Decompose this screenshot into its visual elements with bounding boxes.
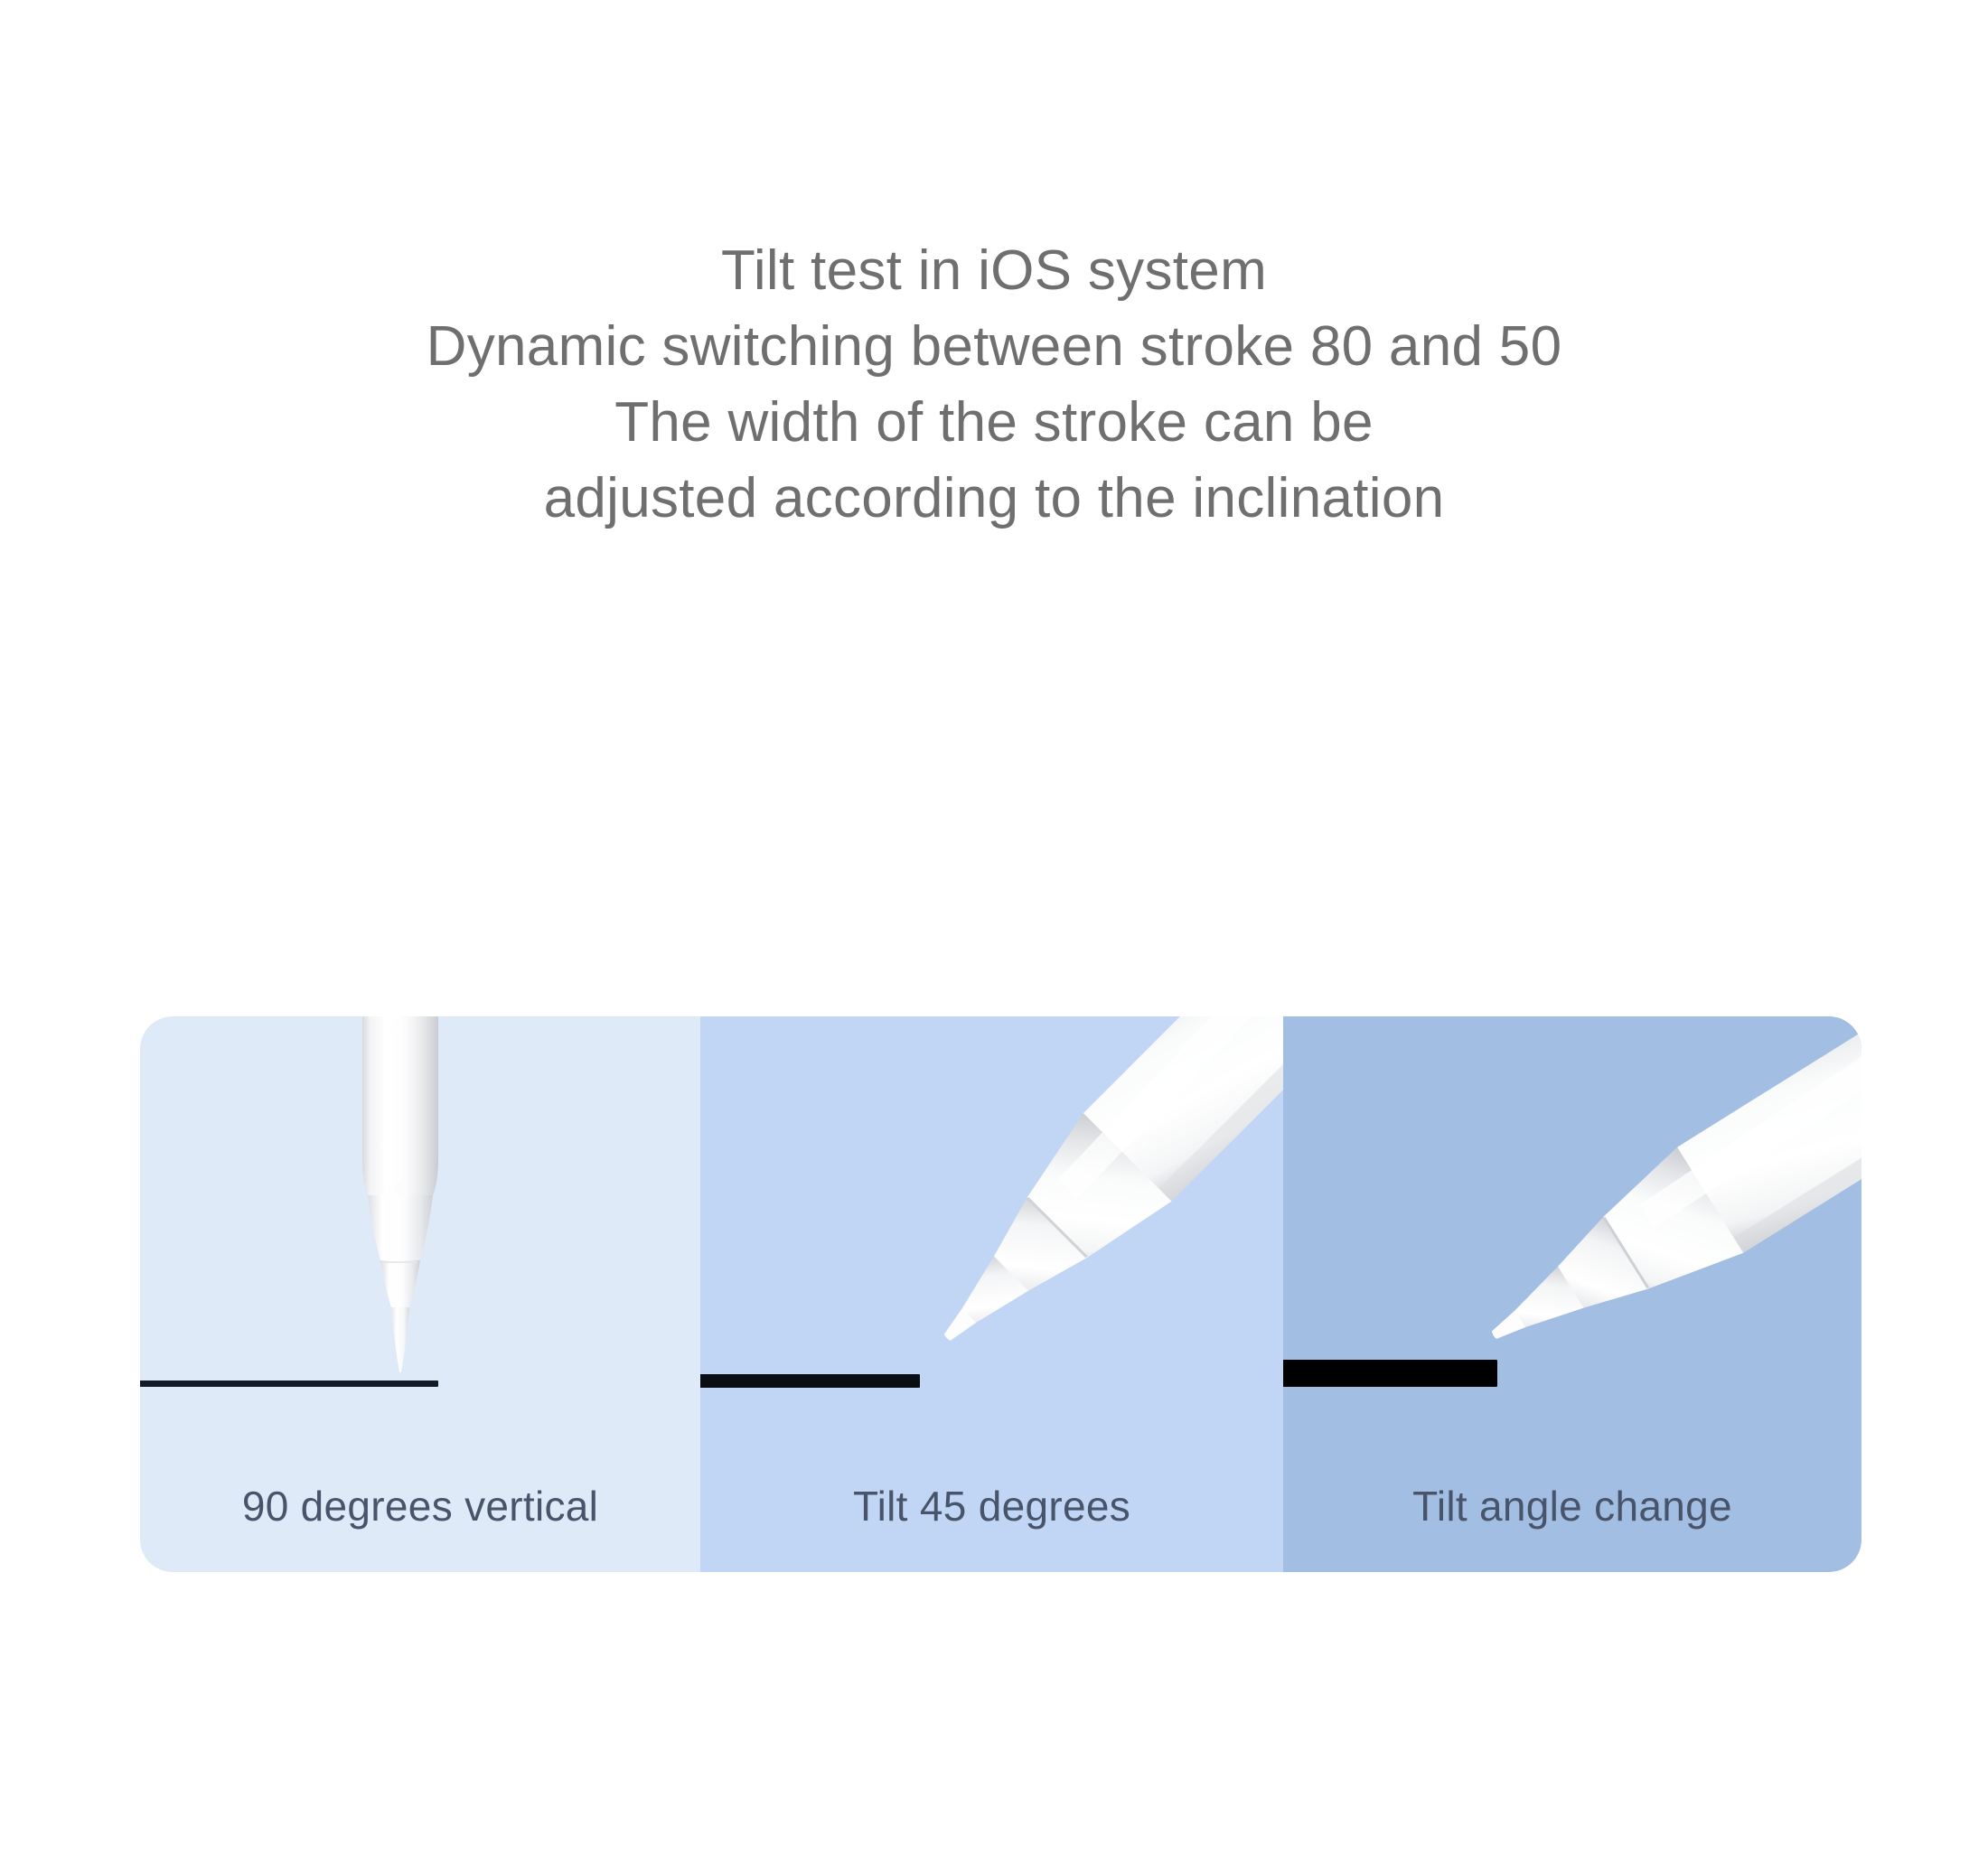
panel-caption-2: Tilt 45 degrees [700,1482,1283,1530]
panel-tilt-angle-change: Tilt angle change [1283,1016,1861,1572]
panel-caption-3: Tilt angle change [1283,1482,1861,1530]
stylus-tilted-30-icon [1428,1016,1861,1414]
product-feature-page: Tilt test in iOS system Dynamic switchin… [0,0,1988,1872]
heading-line-2: Dynamic switching between stroke 80 and … [0,309,1988,385]
tilt-comparison-strip: 90 degrees vertical [140,1016,1861,1572]
heading-line-1: Tilt test in iOS system [0,233,1988,309]
stroke-line-thin [140,1381,438,1387]
page-title: Tilt test in iOS system Dynamic switchin… [0,233,1988,537]
heading-line-3: The width of the stroke can be [0,385,1988,461]
heading-line-4: adjusted according to the inclination [0,461,1988,537]
stroke-line-thick [1283,1360,1497,1387]
stroke-line-medium [700,1374,920,1388]
panel-tilt-45-degrees: Tilt 45 degrees [700,1016,1283,1572]
panel-caption-1: 90 degrees vertical [140,1482,700,1530]
stylus-tilted-45-icon [836,1016,1283,1396]
panel-90-degrees-vertical: 90 degrees vertical [140,1016,700,1572]
stylus-vertical-icon [346,1016,455,1396]
